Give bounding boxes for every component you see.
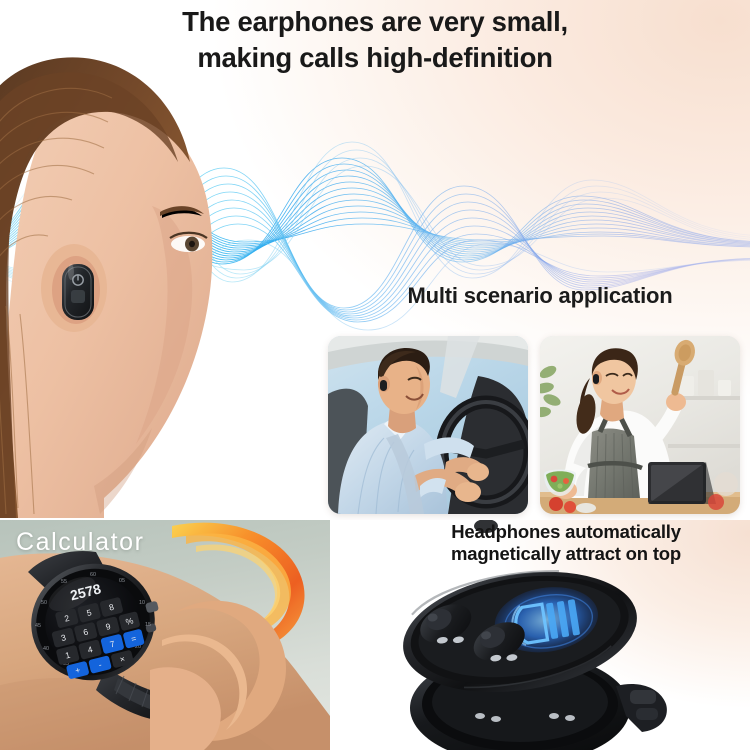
earbud-in-ear bbox=[62, 264, 94, 320]
svg-text:10: 10 bbox=[139, 600, 145, 606]
svg-text:50: 50 bbox=[41, 600, 47, 606]
magnet-caption-line-1: Headphones automatically bbox=[382, 521, 750, 543]
calculator-watch-panel: 60 05 10 15 20 25 30 35 40 45 50 55 bbox=[0, 520, 330, 750]
svg-text:45: 45 bbox=[35, 623, 41, 629]
headline-line-1: The earphones are very small, bbox=[14, 4, 736, 40]
svg-text:15: 15 bbox=[145, 622, 151, 628]
magnet-caption-line-2: magnetically attract on top bbox=[382, 543, 750, 565]
magnet-caption: Headphones automatically magnetically at… bbox=[382, 521, 750, 565]
scenario-card-driving bbox=[328, 336, 528, 514]
section-subtitle: Multi scenario application bbox=[340, 283, 740, 309]
svg-text:40: 40 bbox=[43, 646, 49, 652]
scenario-card-list bbox=[328, 336, 740, 514]
svg-text:05: 05 bbox=[119, 578, 125, 584]
headline-line-2: making calls high-definition bbox=[14, 40, 736, 76]
product-marketing-image: The earphones are very small, making cal… bbox=[0, 0, 750, 750]
page-title: The earphones are very small, making cal… bbox=[0, 4, 750, 77]
top-section: The earphones are very small, making cal… bbox=[0, 0, 750, 520]
scenario-card-cooking bbox=[540, 336, 740, 514]
portrait-woman-with-earbud bbox=[0, 56, 296, 518]
calculator-label: Calculator bbox=[16, 528, 145, 557]
